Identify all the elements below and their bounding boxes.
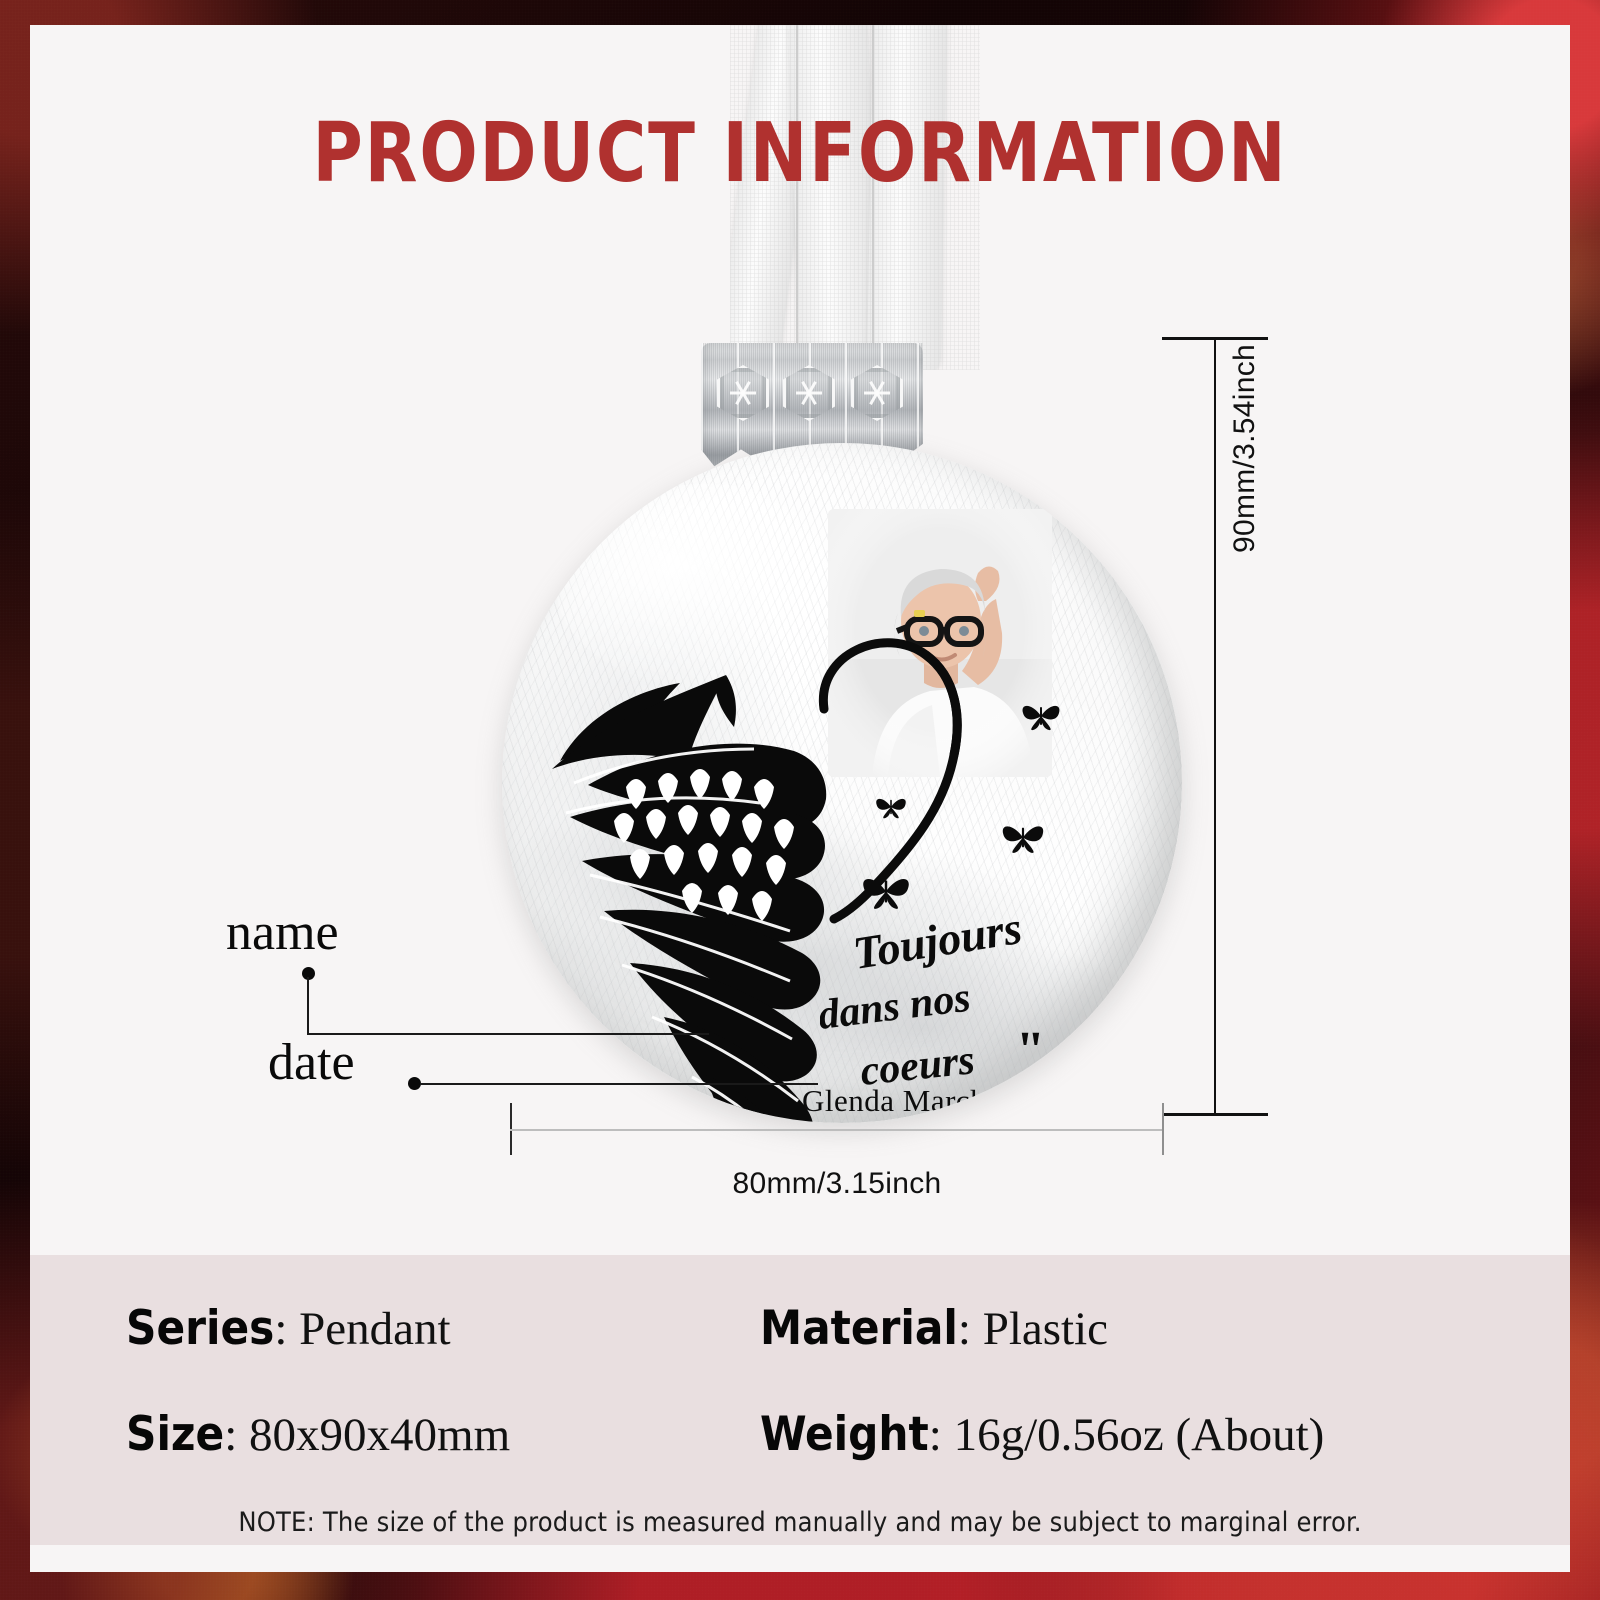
width-dimension-label: 80mm/3.15inch [510,1167,1164,1201]
engraved-date: 1976–2023 [802,1120,1082,1123]
spec-material-key: Material [760,1301,958,1356]
callout-label-date: date [268,1033,355,1092]
page-title: PRODUCT INFORMATION [84,113,1516,195]
spec-material-value: Plastic [983,1303,1108,1355]
spec-series: Series: Pendant [126,1301,451,1356]
callout-label-name: name [226,903,339,962]
spec-size: Size: 80x90x40mm [126,1407,510,1462]
spec-material-sep: : [958,1303,983,1355]
specifications-band: Series: Pendant Material: Plastic Size: … [30,1255,1570,1545]
engraved-script-quote: Toujours dans nos coeurs " [820,921,1130,1101]
butterfly-icon [1000,821,1046,859]
angel-wing-icon [530,665,860,1123]
engraved-personalisation: Glenda March 1976–2023 [802,1083,1082,1123]
spec-material: Material: Plastic [760,1301,1108,1356]
callout-leader-name-vertical [307,977,309,1035]
ornament-illustration: Toujours dans nos coeurs " Glenda March … [502,325,1182,1125]
spec-series-sep: : [274,1303,299,1355]
spec-series-key: Series [126,1301,274,1356]
width-dimension-line [510,1129,1164,1131]
spec-weight: Weight: 16g/0.56oz (About) [760,1407,1324,1462]
spec-size-value: 80x90x40mm [249,1409,510,1461]
quote-line-2: dans nos [820,975,973,1039]
product-information-slide: PRODUCT INFORMATION [0,0,1600,1600]
engraved-name: Glenda March [802,1083,1082,1120]
spec-weight-value: 16g/0.56oz (About) [954,1409,1325,1461]
ornament-ball: Toujours dans nos coeurs " Glenda March … [502,443,1182,1123]
spec-size-key: Size [126,1407,224,1462]
width-dimension-tick-right [1162,1103,1164,1155]
spec-weight-sep: : [929,1409,954,1461]
content-card: PRODUCT INFORMATION [30,25,1570,1572]
measurement-note: NOTE: The size of the product is measure… [30,1507,1570,1538]
butterfly-icon [1020,701,1062,736]
callout-leader-date-horizontal [420,1083,818,1085]
butterfly-icon [874,795,908,824]
quote-mark: " [1016,1022,1045,1079]
spec-size-sep: : [224,1409,249,1461]
height-dimension-label: 90mm/3.54inch [1228,344,1262,553]
quote-line-1: Toujours [850,921,1026,979]
spec-series-value: Pendant [299,1303,450,1355]
height-dimension-line [1214,337,1216,1115]
height-dimension-cap-bottom [1162,1113,1268,1116]
butterfly-icon [860,873,912,915]
spec-weight-key: Weight [760,1407,929,1462]
callout-leader-name-horizontal [307,1033,709,1035]
